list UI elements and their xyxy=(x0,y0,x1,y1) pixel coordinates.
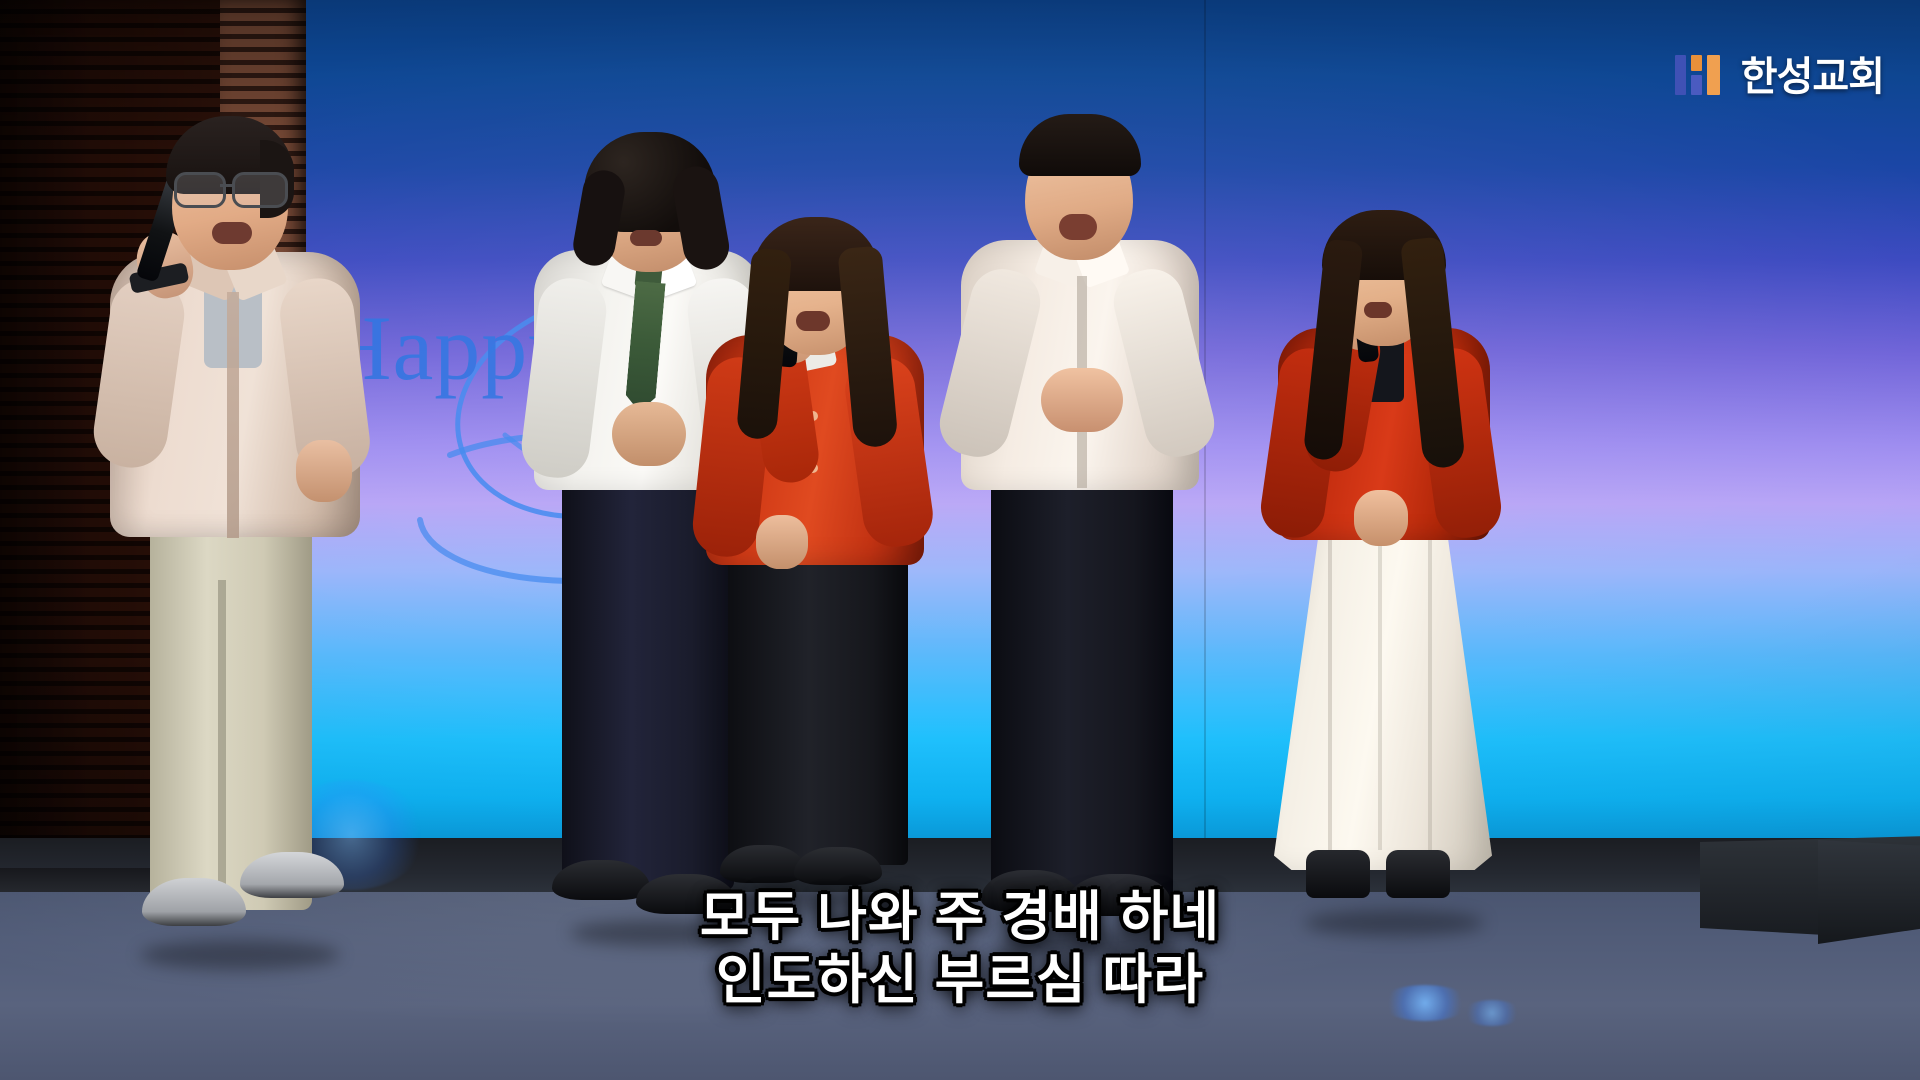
singer-5-shoe-right xyxy=(1386,850,1450,898)
singer-3-shoe-right xyxy=(794,847,882,885)
singer-4-shoe-left xyxy=(981,870,1079,912)
singer-4-shoe-right xyxy=(1067,874,1171,916)
singer-1-trousers xyxy=(150,510,312,910)
singer-3-skirt xyxy=(728,515,908,865)
singer-2-shoe-left xyxy=(552,860,650,900)
singer-4-trousers xyxy=(991,440,1173,900)
performer-singer-1 xyxy=(100,110,430,1080)
performer-singer-5 xyxy=(1268,210,1518,1080)
singer-1-hand-right xyxy=(296,440,352,502)
video-frame: Happy xyxy=(0,0,1920,1080)
singer-5-shoe-left xyxy=(1306,850,1370,898)
performer-singer-3 xyxy=(700,215,950,1080)
singer-1-glasses-icon xyxy=(174,172,286,202)
singer-4-hair xyxy=(1019,114,1141,176)
singer-3-shoe-left xyxy=(720,845,806,883)
singer-5-hand-right xyxy=(1354,490,1408,546)
singer-2-hands-clasped xyxy=(612,402,686,466)
church-logo-bars-icon xyxy=(1675,51,1727,95)
channel-logo: 한성교회 xyxy=(1675,44,1884,102)
singer-4-hands-clasped xyxy=(1041,368,1123,432)
channel-logo-text: 한성교회 xyxy=(1741,44,1884,102)
singer-3-hand-right xyxy=(756,515,808,569)
singer-1-shoe-right xyxy=(240,852,344,898)
performer-singer-4 xyxy=(955,110,1220,1080)
singer-5-skirt xyxy=(1274,510,1492,870)
stage-monitor-speaker xyxy=(1700,818,1920,948)
